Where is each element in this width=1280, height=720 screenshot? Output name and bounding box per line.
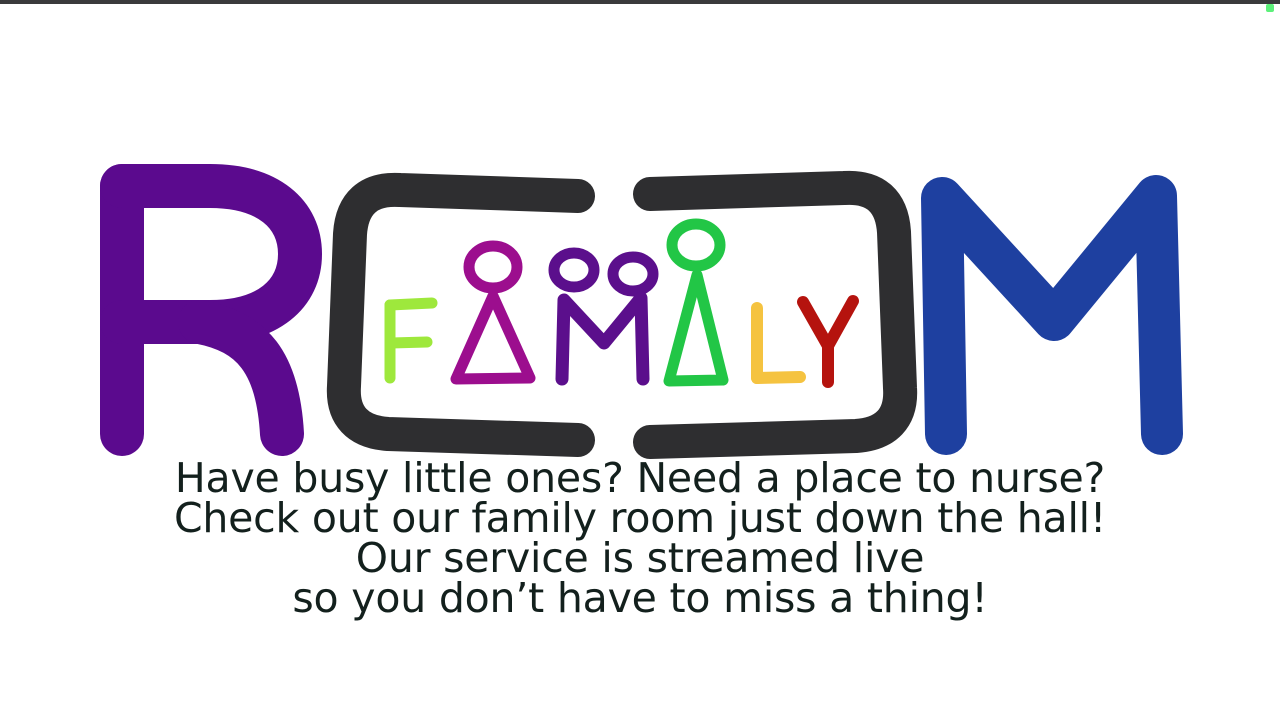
caption-line-1: Have busy little ones? Need a place to n…	[0, 458, 1280, 498]
logo-letter-o-left	[344, 190, 578, 440]
top-chrome-bar	[0, 0, 1280, 4]
slide-canvas: Have busy little ones? Need a place to n…	[0, 0, 1280, 720]
caption-line-2: Check out our family room just down the …	[0, 498, 1280, 538]
caption-line-4: so you don’t have to miss a thing!	[0, 578, 1280, 618]
caption-line-3: Our service is streamed live	[0, 538, 1280, 578]
logo-letter-r	[122, 186, 300, 434]
family-letter-a	[456, 246, 530, 379]
family-letter-f	[390, 303, 432, 378]
caption-block: Have busy little ones? Need a place to n…	[0, 458, 1280, 618]
family-letter-m	[554, 253, 653, 379]
recording-indicator-icon	[1266, 4, 1274, 12]
family-letter-l	[757, 308, 800, 378]
room-logo	[0, 150, 1280, 460]
logo-letter-m	[942, 196, 1162, 434]
logo-artwork	[0, 150, 1280, 460]
family-letter-i	[669, 224, 723, 381]
family-letter-y	[803, 301, 853, 382]
